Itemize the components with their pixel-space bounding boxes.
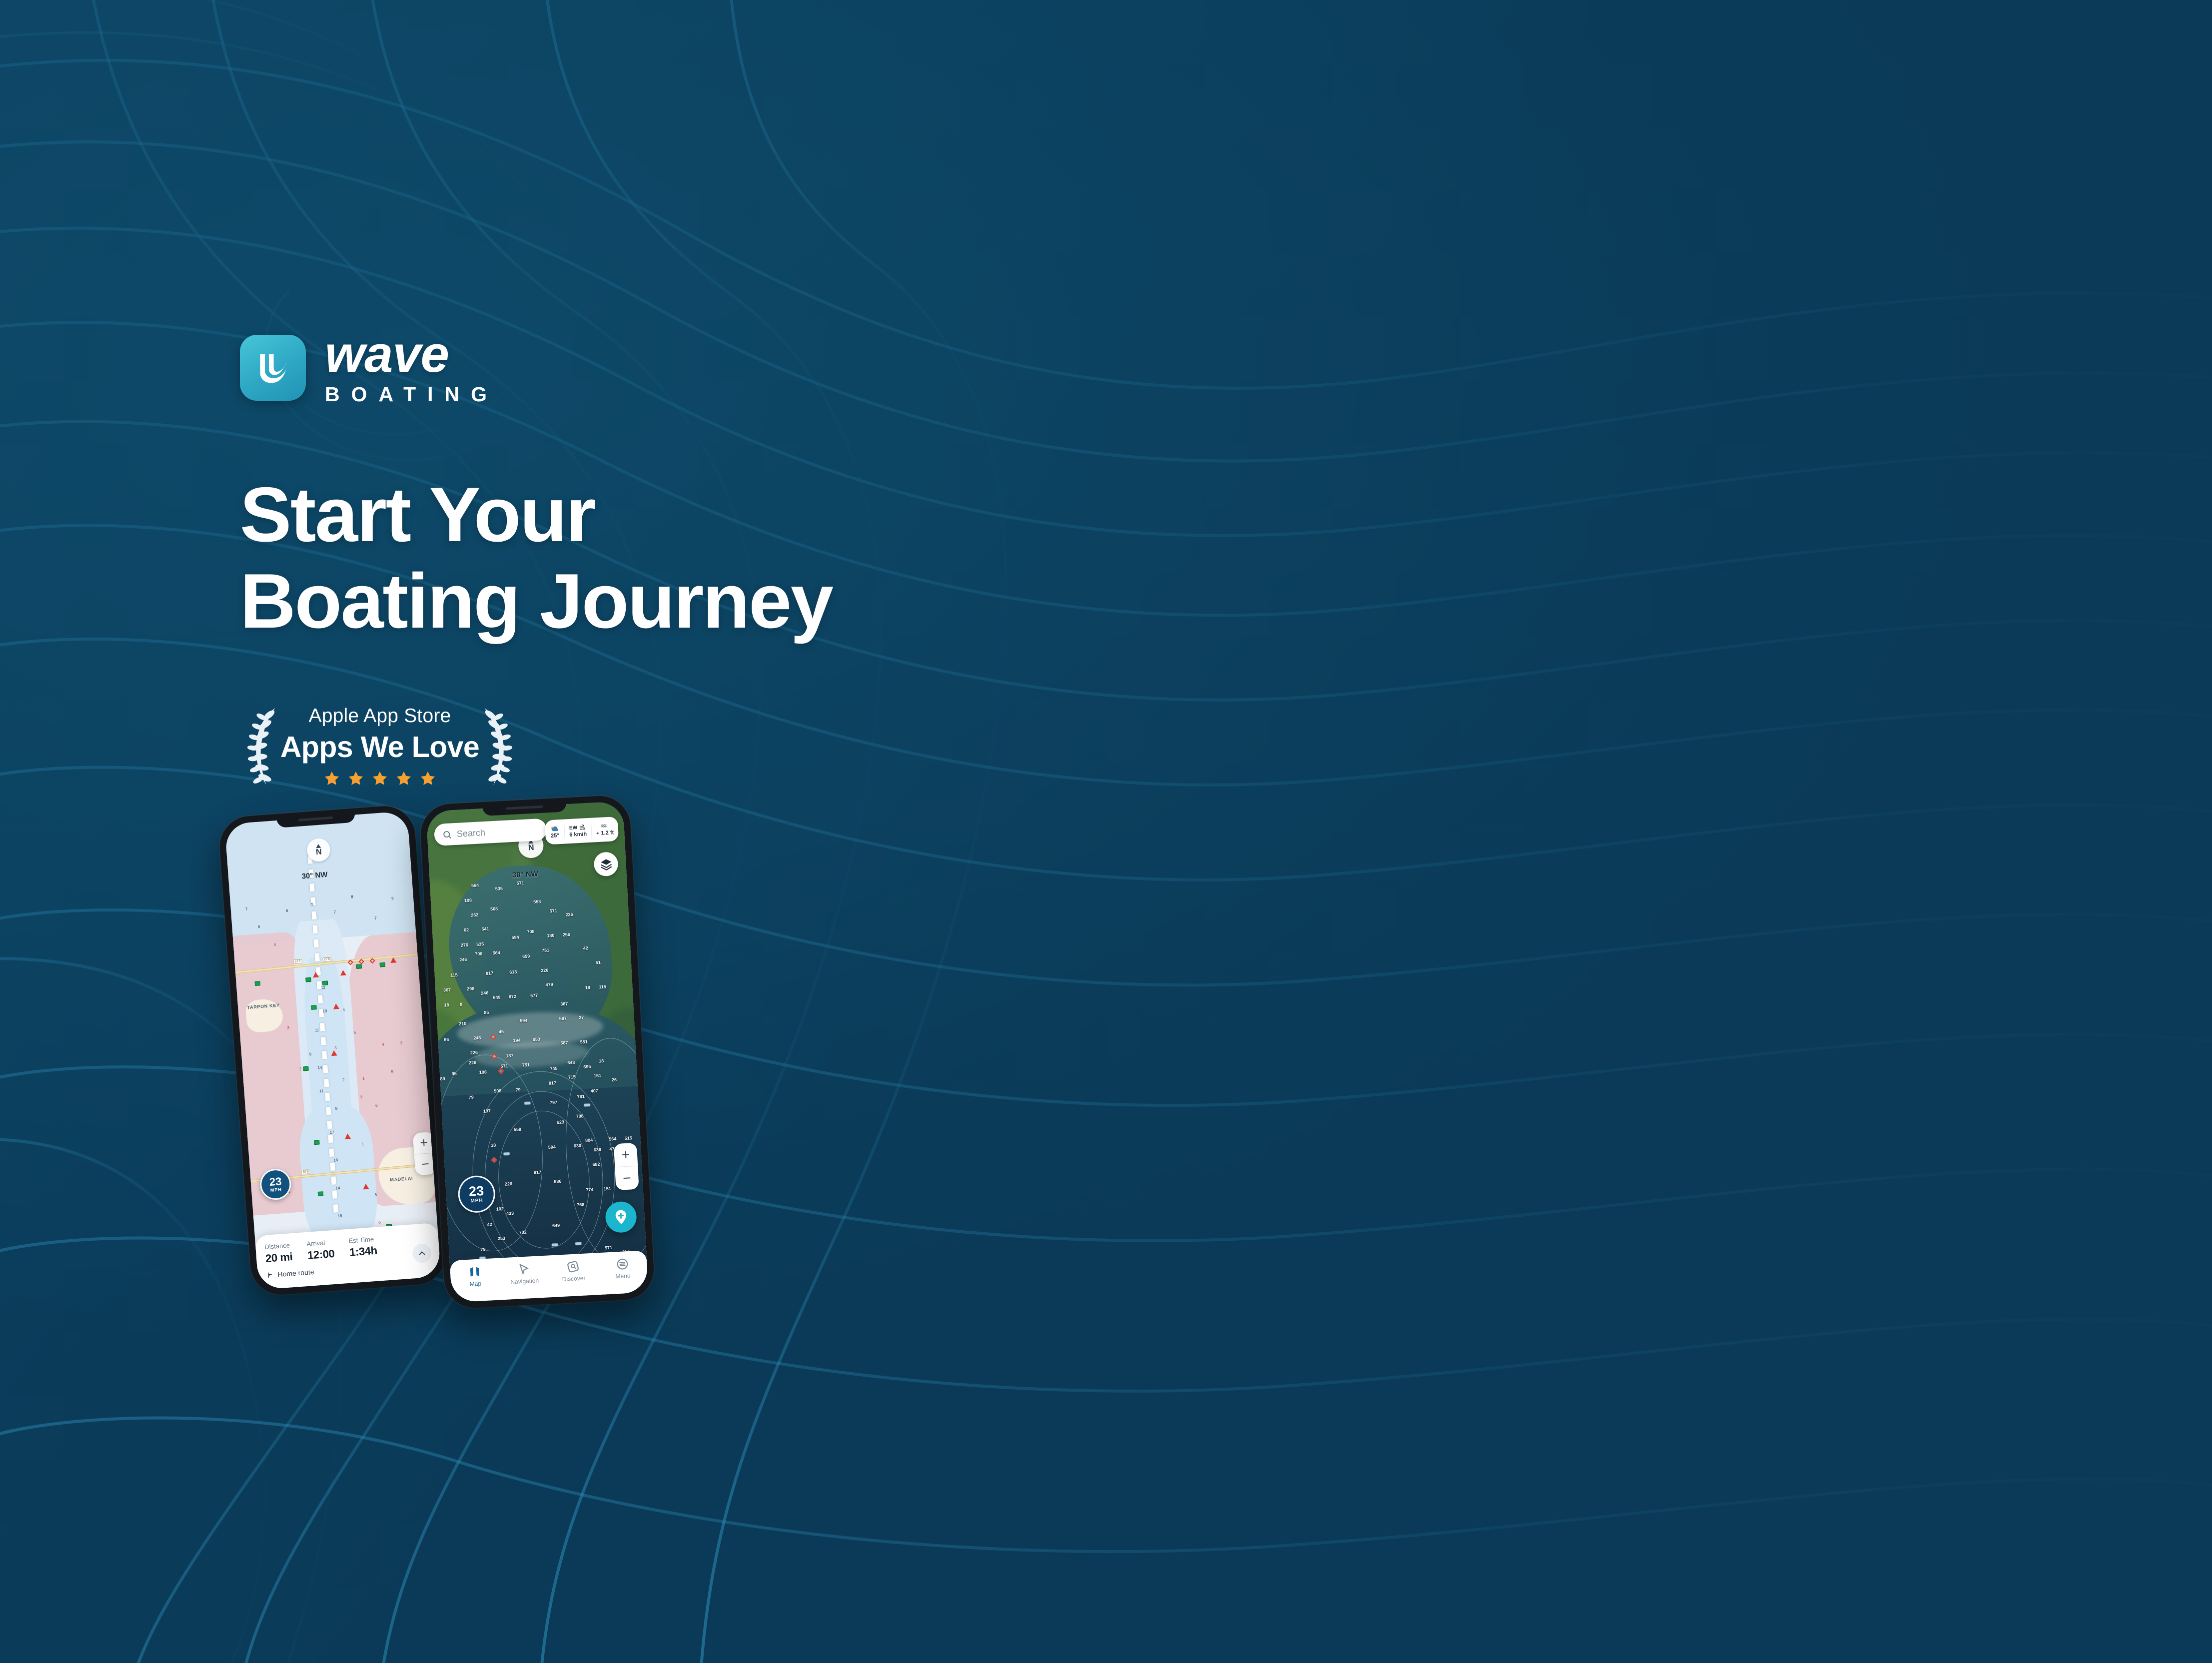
navigation-arrow-icon xyxy=(517,1262,531,1276)
speed-unit: MPH xyxy=(270,1187,282,1193)
discover-compass-icon xyxy=(566,1260,580,1273)
buoy-red xyxy=(344,1133,351,1139)
nav-label: Menu xyxy=(615,1272,631,1280)
zoom-controls[interactable]: + − xyxy=(614,1143,639,1190)
vessel-marker xyxy=(551,1243,558,1247)
wind-direction: EW xyxy=(569,825,578,831)
star-icon xyxy=(323,770,340,787)
award-badge: Apple App Store Apps We Love xyxy=(240,697,520,795)
buoy-red xyxy=(331,1050,337,1056)
star-icon xyxy=(419,770,436,787)
phone-mockup-chart: 275 275 679 679 TARPON KEY MADELAI xyxy=(217,804,448,1297)
road-shield: 275 xyxy=(293,959,302,964)
compass-letter: N xyxy=(528,843,534,852)
wave-app-icon xyxy=(240,335,306,401)
buoy-red xyxy=(390,957,397,963)
wind-icon xyxy=(579,824,587,831)
route-info-card[interactable]: Distance 20 mi Arrival 12:00 Est Time 1:… xyxy=(255,1223,441,1290)
stat-value: 20 mi xyxy=(265,1250,293,1265)
vessel-marker xyxy=(575,1242,582,1246)
zoom-out-button[interactable]: − xyxy=(414,1153,437,1175)
vessel-marker xyxy=(583,1103,590,1107)
stat-arrival: Arrival 12:00 xyxy=(306,1238,335,1262)
nav-item-map[interactable]: Map xyxy=(450,1264,500,1289)
stat-est-time: Est Time 1:34h xyxy=(348,1235,378,1259)
speed-unit: MPH xyxy=(470,1198,483,1204)
nav-label: Navigation xyxy=(510,1277,539,1285)
vessel-marker xyxy=(503,1152,510,1156)
wordmark-subtitle: BOATING xyxy=(325,383,498,406)
star-icon xyxy=(347,770,364,787)
weather-temperature: 25° xyxy=(545,820,565,845)
headline-line-2: Boating Journey xyxy=(240,558,1090,645)
buoy-red xyxy=(363,1183,369,1189)
phone-left-screen: 275 275 679 679 TARPON KEY MADELAI xyxy=(224,811,441,1290)
buoy-green xyxy=(305,977,311,982)
weather-wind: EW 6 km/h xyxy=(564,818,592,844)
buoy-green xyxy=(380,962,386,967)
satellite-3d-map[interactable]: 564 535 571 108 262 568 558 62 541 571 2… xyxy=(426,801,649,1302)
route-stats: Distance 20 mi Arrival 12:00 Est Time 1:… xyxy=(264,1231,430,1265)
search-placeholder-text: Search xyxy=(456,827,485,839)
stat-distance: Distance 20 mi xyxy=(264,1241,293,1265)
phone-mockups: 275 275 679 679 TARPON KEY MADELAI xyxy=(235,800,785,1329)
add-waypoint-icon xyxy=(612,1208,630,1226)
chevron-up-icon xyxy=(417,1248,427,1258)
laurel-wreath-left-icon xyxy=(244,701,283,791)
buoy-red xyxy=(333,1003,339,1009)
buoy-green xyxy=(254,981,260,986)
zoom-in-button[interactable]: + xyxy=(413,1131,435,1154)
tide-wave-icon xyxy=(600,823,610,830)
buoy-red xyxy=(340,970,346,976)
nav-item-navigation[interactable]: Navigation xyxy=(499,1261,550,1286)
weather-tide: + 1.2 ft xyxy=(590,817,619,842)
speed-value: 23 xyxy=(468,1184,484,1199)
hero-content: wave BOATING Start Your Boating Journey xyxy=(240,330,1090,795)
road-shield: 679 xyxy=(301,1169,310,1174)
star-icon xyxy=(395,770,412,787)
stat-label: Arrival xyxy=(306,1238,334,1248)
nav-label: Map xyxy=(469,1280,481,1288)
layers-icon xyxy=(599,857,612,870)
star-icon xyxy=(371,770,388,787)
nav-item-discover[interactable]: Discover xyxy=(548,1259,599,1283)
brand-wordmark: wave BOATING xyxy=(325,330,498,406)
search-icon xyxy=(442,830,452,839)
zoom-in-button[interactable]: + xyxy=(614,1143,638,1167)
zoom-out-button[interactable]: − xyxy=(615,1166,639,1190)
compass-letter: N xyxy=(316,848,322,856)
buoy-green xyxy=(317,1191,323,1196)
weather-temp-value: 25° xyxy=(551,832,559,839)
weather-widget[interactable]: 25° EW 6 km/h xyxy=(545,817,619,845)
stat-label: Distance xyxy=(264,1241,292,1251)
stat-value: 1:34h xyxy=(349,1244,377,1259)
page-title: Start Your Boating Journey xyxy=(240,471,1090,645)
buoy-green xyxy=(314,1140,320,1145)
nav-item-menu[interactable]: Menu xyxy=(597,1256,648,1281)
nav-label: Discover xyxy=(562,1275,585,1283)
hamburger-menu-icon xyxy=(616,1257,629,1271)
wind-speed-value: 6 km/h xyxy=(569,831,587,838)
buoy-green xyxy=(311,1005,317,1010)
heading-readout: 30° NW xyxy=(512,869,538,879)
sun-cloud-icon xyxy=(549,825,560,832)
speed-value: 23 xyxy=(269,1176,282,1188)
brand-logo-lockup: wave BOATING xyxy=(240,330,1090,406)
map-icon xyxy=(468,1265,481,1278)
phone-mockup-satellite: 564 535 571 108 262 568 558 62 541 571 2… xyxy=(419,795,655,1310)
phone-right-screen: 564 535 571 108 262 568 558 62 541 571 2… xyxy=(426,801,649,1302)
buoy-red xyxy=(312,972,319,978)
route-flag-icon xyxy=(266,1271,274,1279)
headline-line-1: Start Your xyxy=(240,471,1090,558)
compass-north-arrow-icon xyxy=(316,843,321,848)
stat-label: Est Time xyxy=(348,1235,376,1245)
tide-value: + 1.2 ft xyxy=(596,830,614,836)
stat-value: 12:00 xyxy=(307,1247,335,1262)
route-name: Home route xyxy=(277,1268,314,1278)
buoy-green xyxy=(356,964,362,969)
wordmark-main: wave xyxy=(325,330,498,379)
zoom-controls[interactable]: + − xyxy=(413,1131,437,1175)
buoy-green xyxy=(303,1066,309,1071)
buoy-green xyxy=(322,980,328,985)
laurel-wreath-right-icon xyxy=(477,701,516,791)
road-shield: 275 xyxy=(322,957,331,962)
nautical-chart-map[interactable]: 275 275 679 679 TARPON KEY MADELAI xyxy=(224,811,441,1290)
